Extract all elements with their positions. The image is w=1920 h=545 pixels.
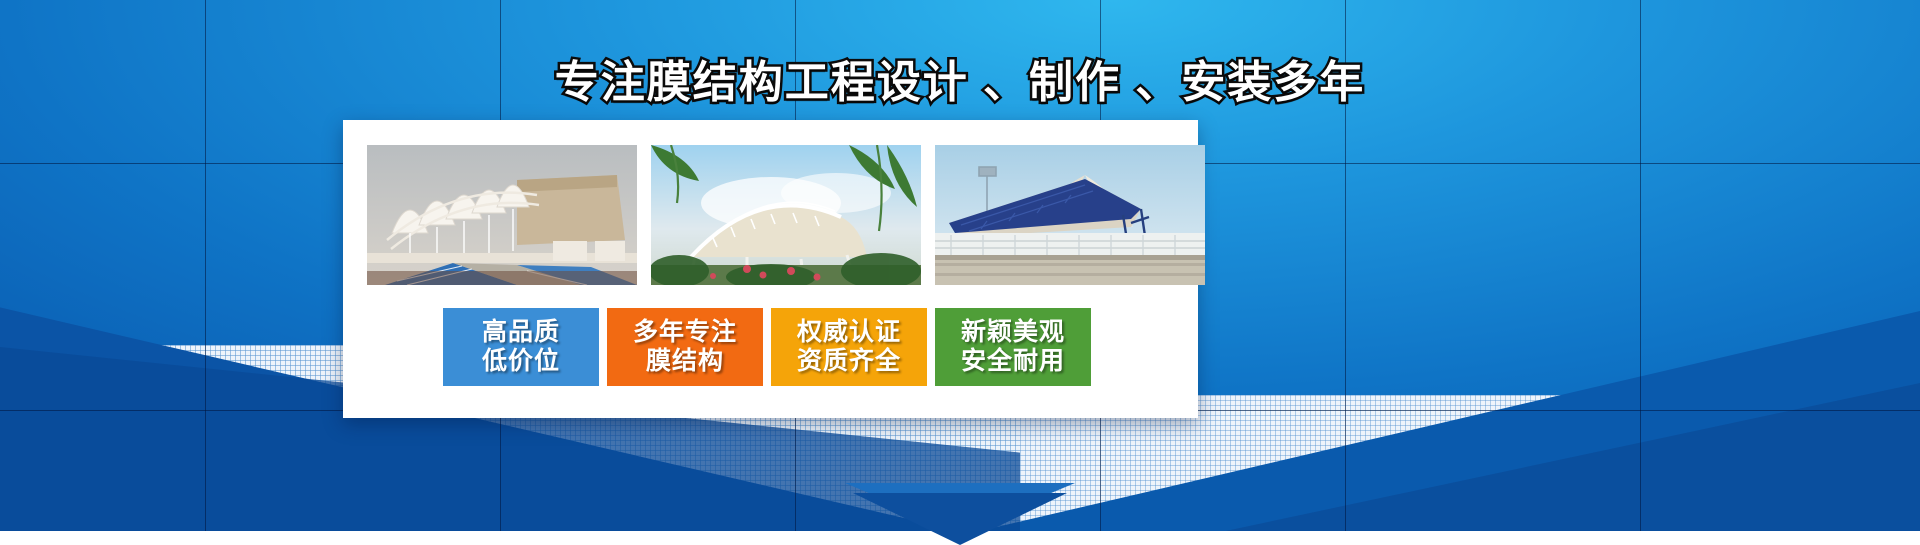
badge-line-2: 资质齐全: [797, 347, 901, 376]
badge-line-2: 低价位: [482, 347, 560, 376]
badge-line-1: 多年专注: [633, 318, 737, 347]
content-card: 高品质低价位多年专注膜结构权威认证资质齐全新颖美观安全耐用: [343, 120, 1198, 418]
photo-gallery: [367, 145, 1205, 285]
badge-design[interactable]: 新颖美观安全耐用: [935, 308, 1091, 386]
photo-grandstand: [935, 145, 1205, 285]
badge-line-2: 安全耐用: [961, 347, 1065, 376]
page-title: 专注膜结构工程设计 、制作 、安装多年: [0, 46, 1920, 110]
photo-stadium-canopy: [367, 145, 637, 285]
down-chevron-icon: [845, 483, 1075, 545]
badge-line-1: 高品质: [482, 318, 560, 347]
feature-badge-row: 高品质低价位多年专注膜结构权威认证资质齐全新颖美观安全耐用: [443, 308, 1091, 386]
badge-quality[interactable]: 高品质低价位: [443, 308, 599, 386]
badge-line-1: 权威认证: [797, 318, 901, 347]
promo-banner: 专注膜结构工程设计 、制作 、安装多年: [0, 0, 1920, 545]
badge-line-1: 新颖美观: [961, 318, 1065, 347]
photo-park-dome: [651, 145, 921, 285]
badge-line-2: 膜结构: [646, 347, 724, 376]
badge-experience[interactable]: 多年专注膜结构: [607, 308, 763, 386]
badge-certified[interactable]: 权威认证资质齐全: [771, 308, 927, 386]
